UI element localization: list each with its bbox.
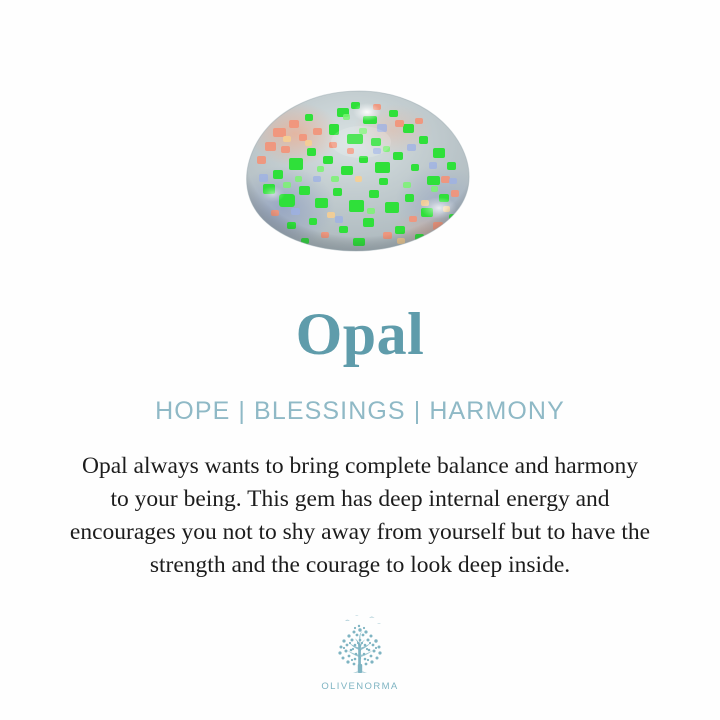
gemstone-keywords: HOPE | BLESSINGS | HARMONY — [0, 396, 720, 426]
gemstone-title: Opal — [0, 300, 720, 368]
description-line: to your being. This gem has deep interna… — [26, 483, 694, 516]
description-line: encourages you not to shy away from your… — [26, 516, 694, 549]
opal-gemstone-image — [243, 90, 477, 252]
brand-logo: OLIVENORMA — [0, 612, 720, 692]
description-line: Opal always wants to bring complete bala… — [26, 450, 694, 483]
opal-cabochon-icon — [243, 90, 477, 252]
gemstone-description: Opal always wants to bring complete bala… — [26, 450, 694, 582]
brand-wordmark: OLIVENORMA — [0, 681, 720, 692]
gemstone-info-card: Opal HOPE | BLESSINGS | HARMONY Opal alw… — [0, 0, 720, 720]
description-line: strength and the courage to look deep in… — [26, 549, 694, 582]
tree-logo-icon — [325, 612, 395, 680]
